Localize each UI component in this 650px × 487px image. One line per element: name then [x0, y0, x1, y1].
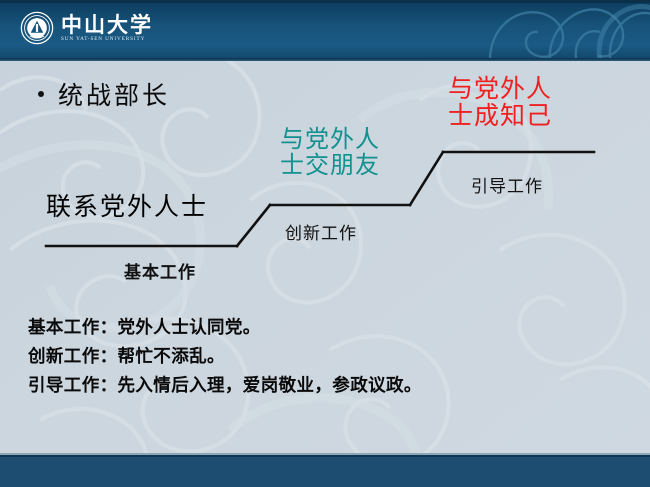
bullet-heading: 统战部长: [38, 76, 170, 112]
bullet-heading-label: 统战部长: [58, 76, 170, 112]
bullet-dot-icon: [38, 91, 44, 97]
step-2-caption: 创新工作: [285, 219, 357, 244]
step-2-title: 与党外人 士交朋友: [280, 128, 380, 180]
note-line-3: 引导工作：先入情后入理，爱岗敬业，参政议政。: [28, 371, 422, 400]
step-2-title-line1: 与党外人: [280, 128, 380, 154]
slide-header-bar: 中山大学 SUN YAT-SEN UNIVERSITY: [0, 0, 650, 58]
header-swirl-decoration-icon: [480, 0, 650, 58]
note-line-1: 基本工作：党外人士认同党。: [28, 313, 422, 342]
step-1-title: 联系党外人士: [46, 194, 208, 221]
header-bottom-rule: [0, 58, 650, 61]
explanation-notes: 基本工作：党外人士认同党。 创新工作：帮忙不添乱。 引导工作：先入情后入理，爱岗…: [28, 313, 422, 400]
step-3-title-line1: 与党外人: [448, 76, 552, 103]
university-logo: 中山大学 SUN YAT-SEN UNIVERSITY: [20, 11, 153, 45]
step-1-caption: 基本工作: [124, 258, 196, 283]
step-3-caption: 引导工作: [471, 172, 543, 197]
slide-footer-bar: [0, 453, 650, 487]
university-seal-icon: [20, 11, 54, 45]
logo-chinese-name: 中山大学: [61, 14, 153, 35]
slide-canvas: 中山大学 SUN YAT-SEN UNIVERSITY 统战部长 联系党外人士 …: [0, 0, 650, 487]
logo-english-name: SUN YAT-SEN UNIVERSITY: [61, 37, 145, 42]
step-2-title-line2: 士交朋友: [280, 154, 380, 180]
step-3-title: 与党外人 士成知己: [448, 76, 552, 130]
footer-top-rule: [0, 455, 650, 457]
note-line-2: 创新工作：帮忙不添乱。: [28, 342, 422, 371]
step-3-title-line2: 士成知己: [448, 103, 552, 130]
logo-wordmark: 中山大学 SUN YAT-SEN UNIVERSITY: [61, 14, 153, 42]
